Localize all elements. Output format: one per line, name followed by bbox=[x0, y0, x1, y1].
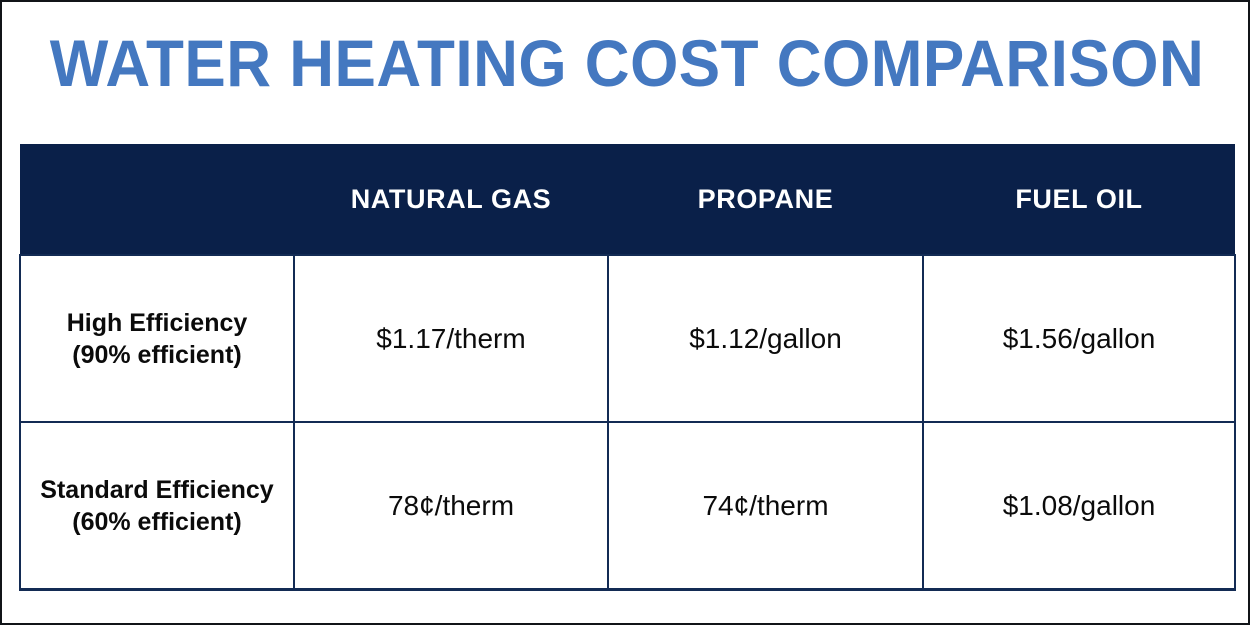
row-label-standard-efficiency: Standard Efficiency (60% efficient) bbox=[20, 422, 294, 590]
cost-comparison-table: NATURAL GAS PROPANE FUEL OIL High Effici… bbox=[19, 144, 1236, 591]
page-root: WATER HEATING COST COMPARISON NATURAL GA… bbox=[0, 0, 1250, 625]
row-label-high-efficiency: High Efficiency (90% efficient) bbox=[20, 255, 294, 422]
table-header: NATURAL GAS PROPANE FUEL OIL bbox=[20, 144, 1235, 255]
cell-standard-efficiency-fuel-oil: $1.08/gallon bbox=[923, 422, 1235, 590]
column-header-natural-gas: NATURAL GAS bbox=[294, 144, 608, 255]
cost-comparison-table-wrapper: NATURAL GAS PROPANE FUEL OIL High Effici… bbox=[19, 144, 1234, 569]
column-header-corner bbox=[20, 144, 294, 255]
column-header-propane: PROPANE bbox=[608, 144, 923, 255]
cell-high-efficiency-natural-gas: $1.17/therm bbox=[294, 255, 608, 422]
column-header-fuel-oil: FUEL OIL bbox=[923, 144, 1235, 255]
cell-high-efficiency-fuel-oil: $1.56/gallon bbox=[923, 255, 1235, 422]
header-row: NATURAL GAS PROPANE FUEL OIL bbox=[20, 144, 1235, 255]
page-title: WATER HEATING COST COMPARISON bbox=[40, 26, 1215, 100]
table-row: High Efficiency (90% efficient) $1.17/th… bbox=[20, 255, 1235, 422]
cell-standard-efficiency-propane: 74¢/therm bbox=[608, 422, 923, 590]
cell-standard-efficiency-natural-gas: 78¢/therm bbox=[294, 422, 608, 590]
table-body: High Efficiency (90% efficient) $1.17/th… bbox=[20, 255, 1235, 590]
table-row: Standard Efficiency (60% efficient) 78¢/… bbox=[20, 422, 1235, 590]
cell-high-efficiency-propane: $1.12/gallon bbox=[608, 255, 923, 422]
